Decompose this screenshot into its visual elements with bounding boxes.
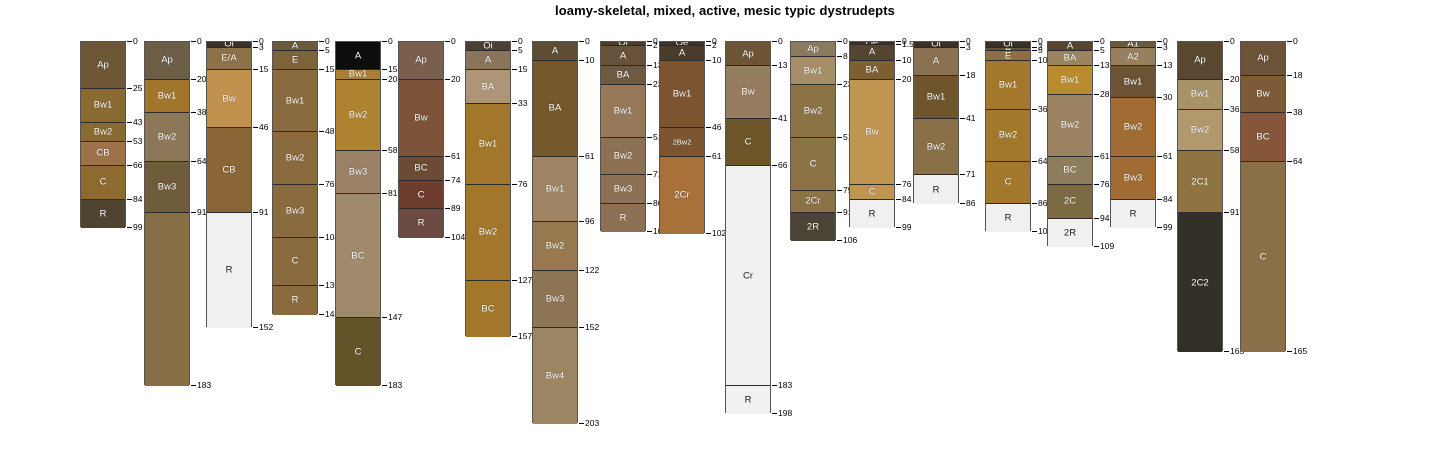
soil-horizon[interactable]: Ap [1241,42,1285,76]
profile-column[interactable]: ApBw1Bw2CBCR [80,41,126,227]
depth-label: 104 [451,232,465,242]
soil-horizon[interactable]: Bw3 [533,271,577,327]
depth-tick [647,45,652,46]
depth-label: 66 [133,160,142,170]
soil-horizon[interactable]: Bw1 [660,61,704,129]
depth-tick [1094,41,1099,42]
depth-tick [512,336,517,337]
soil-horizon[interactable]: A [850,45,894,61]
depth-label: 165 [1293,346,1307,356]
depth-tick [772,118,777,119]
depth-tick [512,69,517,70]
soil-profile-chart: loamy-skeletal, mixed, active, mesic typ… [0,0,1450,450]
depth-label: 15 [325,64,334,74]
depth-label: 0 [1230,36,1235,46]
depth-tick [1224,150,1229,151]
soil-horizon[interactable]: C [791,138,835,191]
soil-horizon[interactable]: Bw2 [145,113,189,162]
depth-tick [1032,41,1037,42]
depth-tick [1157,65,1162,66]
soil-horizon[interactable]: Bw4 [533,328,577,424]
depth-label: 43 [133,117,142,127]
soil-horizon[interactable]: CB [81,142,125,166]
depth-label: 20 [902,74,911,84]
soil-horizon[interactable]: Bw3 [1111,157,1155,200]
depth-tick [960,47,965,48]
soil-horizon[interactable]: Bw2 [1178,110,1222,151]
depth-label: 33 [518,98,527,108]
soil-horizon[interactable]: Bw [850,80,894,185]
horizon-label: R [601,212,645,223]
soil-horizon[interactable]: E [986,51,1030,60]
depth-tick [1094,156,1099,157]
soil-horizon[interactable]: Bw [726,66,770,119]
depth-tick [1094,50,1099,51]
horizon-label: BC [336,250,380,261]
depth-tick [647,84,652,85]
soil-horizon[interactable]: Bw2 [914,119,958,175]
horizon-label: Bw2 [273,153,317,164]
depth-tick [1224,109,1229,110]
soil-horizon[interactable]: Bw2 [1111,98,1155,156]
soil-horizon[interactable]: 2C1 [1178,151,1222,213]
horizon-label: A [601,50,645,61]
depth-label: 84 [1163,194,1172,204]
depth-label: 152 [585,322,599,332]
depth-tick [706,45,711,46]
depth-tick [319,50,324,51]
depth-tick [319,41,324,42]
depth-tick [647,174,652,175]
soil-horizon[interactable]: A [466,51,510,70]
soil-horizon[interactable]: E/A [207,48,251,71]
depth-label: 84 [902,194,911,204]
soil-horizon[interactable]: Ap [1178,42,1222,80]
depth-tick [319,131,324,132]
soil-horizon[interactable]: Bw3 [336,151,380,194]
depth-tick [319,184,324,185]
horizon-label: Bw3 [1111,172,1155,183]
soil-horizon[interactable]: BA [601,66,645,85]
soil-horizon[interactable]: A [660,46,704,61]
soil-horizon[interactable]: R [207,213,251,328]
depth-tick [253,327,258,328]
depth-tick [382,317,387,318]
soil-horizon[interactable]: Bw1 [914,76,958,119]
soil-horizon[interactable]: C [1241,162,1285,352]
depth-tick [127,199,132,200]
horizon-label: Bw [726,87,770,98]
horizon-label: Bw2 [336,109,380,120]
soil-horizon[interactable]: BA [850,61,894,80]
horizon-label: CB [81,148,125,159]
depth-label: 61 [585,151,594,161]
depth-tick [960,75,965,76]
horizon-label: 2Cr [791,196,835,207]
soil-horizon[interactable]: C [336,318,380,386]
soil-horizon[interactable]: C [399,181,443,209]
soil-horizon[interactable]: C [81,166,125,200]
horizon-label: Ap [1178,55,1222,66]
depth-tick [127,88,132,89]
depth-label: 2 [653,40,658,50]
depth-label: 76 [518,179,527,189]
horizon-label: Bw4 [533,370,577,381]
depth-tick [960,118,965,119]
horizon-label: Bw [850,126,894,137]
depth-tick [896,41,901,42]
depth-tick [382,69,387,70]
soil-horizon[interactable]: Ap [399,42,443,80]
depth-tick [127,41,132,42]
depth-label: 94 [1100,213,1109,223]
horizon-label: 2C1 [1178,176,1222,187]
depth-label: 76 [325,179,334,189]
depth-label: 0 [1293,36,1298,46]
depth-tick [1032,109,1037,110]
depth-label: 5 [1100,45,1105,55]
depth-label: 41 [778,113,787,123]
depth-tick [253,41,258,42]
profile-column[interactable]: ApBwCCrR [725,41,771,413]
soil-horizon[interactable]: Cr [726,166,770,386]
horizon-label: E [273,55,317,66]
depth-tick [1094,184,1099,185]
horizon-label: Bw1 [1178,89,1222,100]
horizon-label: C [399,189,443,200]
depth-label: 89 [451,203,460,213]
horizon-label: 2R [1048,227,1092,238]
soil-horizon[interactable]: A [533,42,577,61]
depth-label: 76 [1100,179,1109,189]
depth-tick [647,231,652,232]
soil-horizon[interactable]: Bw1 [273,70,317,132]
horizon-label: Bw1 [986,79,1030,90]
depth-label: 127 [518,275,532,285]
profile-column[interactable]: OiAEBw1Bw2CR [985,41,1031,231]
soil-horizon[interactable]: A2 [1111,48,1155,67]
depth-label: 106 [843,235,857,245]
profile-column[interactable]: ApBwBCC [1240,41,1286,351]
depth-tick [960,41,965,42]
soil-horizon[interactable]: Bw2 [1048,95,1092,157]
soil-horizon[interactable]: E [273,51,317,70]
soil-horizon[interactable]: BA [466,70,510,104]
depth-tick [445,156,450,157]
profile-column[interactable]: ApBw1Bw2C2Cr2R [790,41,836,240]
soil-horizon[interactable]: R [1111,200,1155,228]
soil-horizon[interactable]: R [399,209,443,237]
horizon-label: Bw [1241,89,1285,100]
depth-tick [445,79,450,80]
soil-horizon[interactable]: Ap [81,42,125,89]
soil-horizon[interactable]: A [273,42,317,51]
soil-horizon[interactable]: BC [1241,113,1285,162]
depth-tick [1224,212,1229,213]
soil-horizon[interactable]: Bw2 [81,123,125,142]
horizon-label: Bw1 [601,106,645,117]
depth-label: 0 [388,36,393,46]
horizon-label: BA [1048,53,1092,64]
horizon-label: E [986,51,1030,60]
soil-horizon[interactable]: Bw2 [533,222,577,271]
horizon-label: E/A [207,53,251,64]
depth-label: 3 [259,42,264,52]
horizon-label: Bw3 [533,294,577,305]
soil-horizon[interactable]: Bw1 [1111,66,1155,98]
depth-tick [647,137,652,138]
depth-tick [1094,218,1099,219]
soil-horizon[interactable] [145,213,189,386]
depth-label: 66 [778,160,787,170]
depth-label: 25 [133,83,142,93]
profile-column[interactable]: ABABw1Bw2BC2C2R [1047,41,1093,246]
soil-horizon[interactable]: A [914,48,958,76]
soil-horizon[interactable]: Ap [791,42,835,57]
depth-tick [191,112,196,113]
horizon-label: A [466,55,510,66]
soil-horizon[interactable]: Ap [726,42,770,66]
depth-label: 53 [133,136,142,146]
soil-horizon[interactable]: Bw2 [336,80,380,151]
depth-tick [579,221,584,222]
depth-tick [253,127,258,128]
soil-horizon[interactable]: Ap [145,42,189,80]
depth-tick [319,69,324,70]
soil-horizon[interactable]: Bw3 [273,185,317,238]
soil-horizon[interactable]: Bw3 [601,175,645,203]
soil-horizon[interactable]: Bw2 [791,85,835,138]
soil-horizon[interactable]: Bw1 [601,85,645,138]
depth-tick [445,180,450,181]
soil-horizon[interactable]: BA [533,61,577,157]
soil-horizon[interactable]: Oi [466,42,510,51]
depth-label: 3 [1163,42,1168,52]
depth-tick [960,203,965,204]
depth-label: 28 [1100,89,1109,99]
depth-tick [772,41,777,42]
soil-horizon[interactable]: A [336,42,380,70]
horizon-label: Bw2 [1111,122,1155,133]
depth-label: 198 [778,408,792,418]
soil-horizon[interactable]: Bw1 [986,61,1030,110]
profile-column[interactable]: OiE/ABwCBR [206,41,252,327]
depth-label: 20 [1230,74,1239,84]
depth-label: 5 [325,45,330,55]
horizon-label: C [986,177,1030,188]
soil-horizon[interactable]: 2C [1048,185,1092,219]
profile-column[interactable]: A1A2Bw1Bw2Bw3R [1110,41,1156,227]
soil-horizon[interactable]: Bw2 [273,132,317,185]
depth-tick [512,280,517,281]
depth-label: 13 [1163,60,1172,70]
soil-horizon[interactable]: Bw3 [145,162,189,213]
depth-tick [1157,156,1162,157]
soil-horizon[interactable]: Bw1 [533,157,577,223]
soil-horizon[interactable]: 2Cr [660,157,704,234]
depth-label: 0 [133,36,138,46]
horizon-label: C [726,137,770,148]
depth-tick [579,270,584,271]
horizon-label: Bw3 [273,205,317,216]
depth-tick [1032,60,1037,61]
depth-tick [445,208,450,209]
horizon-label: Bw1 [466,138,510,149]
profile-column[interactable]: OiABw1Bw2R [913,41,959,203]
depth-tick [319,314,324,315]
soil-horizon[interactable]: A [1048,42,1092,51]
depth-tick [127,165,132,166]
depth-label: 109 [1100,241,1114,251]
horizon-label: R [1111,209,1155,220]
soil-horizon[interactable]: BC [336,194,380,318]
soil-horizon[interactable]: R [726,386,770,414]
soil-horizon[interactable]: C [273,238,317,287]
profile-column[interactable]: ABw1Bw2Bw3BCC [335,41,381,385]
soil-horizon[interactable]: Bw2 [986,110,1030,163]
depth-label: 20 [388,74,397,84]
soil-horizon[interactable]: R [914,175,958,203]
depth-label: 91 [1230,207,1239,217]
depth-label: 46 [259,122,268,132]
profile-column[interactable]: ApBwBCCR [398,41,444,237]
horizon-label: Bw2 [1048,120,1092,131]
depth-label: 18 [1293,70,1302,80]
depth-tick [1032,47,1037,48]
depth-label: 152 [259,322,273,332]
profile-column[interactable]: OeABw12Bw22Cr [659,41,705,233]
depth-tick [1224,351,1229,352]
depth-label: 0 [778,36,783,46]
soil-horizon[interactable]: Bw1 [81,89,125,123]
horizon-label: Bw1 [81,100,125,111]
profile-column[interactable]: OeABABwCR [849,41,895,227]
soil-horizon[interactable]: R [273,286,317,314]
depth-tick [1094,246,1099,247]
horizon-label: R [726,395,770,406]
depth-label: 74 [451,175,460,185]
depth-label: 5 [518,45,523,55]
soil-horizon[interactable]: Bw2 [601,138,645,176]
soil-horizon[interactable]: R [986,204,1030,232]
horizon-label: Bw1 [791,65,835,76]
depth-label: 2 [712,40,717,50]
depth-label: 10 [712,55,721,65]
soil-horizon[interactable]: Bw1 [466,104,510,185]
depth-tick [647,203,652,204]
soil-horizon[interactable]: BC [399,157,443,181]
horizon-label: Bw2 [466,227,510,238]
depth-tick [382,385,387,386]
depth-tick [579,41,584,42]
horizon-label: A [273,42,317,51]
depth-tick [706,127,711,128]
horizon-label: A [533,45,577,56]
depth-label: 46 [712,122,721,132]
depth-tick [772,165,777,166]
depth-label: 122 [585,265,599,275]
depth-label: 99 [902,222,911,232]
profile-column[interactable]: ApBw1Bw22C12C2 [1177,41,1223,351]
soil-horizon[interactable]: 2Bw2 [660,128,704,156]
horizon-label: Bw2 [601,151,645,162]
soil-horizon[interactable]: C [986,162,1030,203]
horizon-label: Bw2 [986,130,1030,141]
horizon-label: BC [1241,132,1285,143]
soil-horizon[interactable]: C [850,185,894,200]
horizon-label: BA [466,81,510,92]
depth-tick [127,141,132,142]
depth-tick [191,385,196,386]
depth-tick [382,150,387,151]
depth-label: 15 [518,64,527,74]
soil-horizon[interactable]: A [601,46,645,67]
depth-tick [706,60,711,61]
horizon-label: R [986,212,1030,223]
soil-horizon[interactable]: R [81,200,125,228]
depth-tick [896,60,901,61]
profile-column[interactable]: ABABw1Bw2Bw3Bw4 [532,41,578,423]
horizon-label: 2R [791,222,835,233]
depth-tick [1032,161,1037,162]
soil-horizon[interactable]: R [601,204,645,232]
depth-tick [445,237,450,238]
profile-column[interactable]: OiABABw1Bw2BC [465,41,511,336]
soil-horizon[interactable]: Bw1 [1178,80,1222,110]
horizon-label: Bw1 [336,70,380,79]
horizon-label: C [791,158,835,169]
soil-horizon[interactable]: Bw1 [336,70,380,79]
depth-tick [512,184,517,185]
profile-column[interactable]: AEBw1Bw2Bw3CR [272,41,318,314]
soil-horizon[interactable]: Bw2 [466,185,510,281]
soil-horizon[interactable]: Bw [399,80,443,157]
soil-horizon[interactable]: 2Cr [791,191,835,214]
depth-label: 203 [585,418,599,428]
depth-label: 157 [518,331,532,341]
horizon-label: Bw3 [145,182,189,193]
soil-horizon[interactable]: C [726,119,770,166]
soil-horizon[interactable]: Bw1 [145,80,189,114]
depth-tick [579,423,584,424]
depth-label: 96 [585,216,594,226]
horizon-label: R [914,184,958,195]
horizon-label: C [81,177,125,188]
depth-tick [960,174,965,175]
soil-horizon[interactable]: 2C2 [1178,213,1222,352]
soil-horizon[interactable]: BC [466,281,510,337]
profile-column[interactable]: OiABABw1Bw2Bw3R [600,41,646,231]
soil-horizon[interactable]: Bw1 [1048,66,1092,94]
horizon-label: Bw1 [660,89,704,100]
depth-tick [772,413,777,414]
soil-horizon[interactable]: Bw1 [791,57,835,85]
horizon-label: Bw1 [914,91,958,102]
soil-horizon[interactable]: CB [207,128,251,213]
soil-horizon[interactable]: BA [1048,51,1092,66]
soil-horizon[interactable]: 2R [791,213,835,241]
soil-horizon[interactable]: 2R [1048,219,1092,247]
horizon-label: Ap [399,55,443,66]
soil-horizon[interactable]: R [850,200,894,228]
depth-tick [1287,112,1292,113]
horizon-label: Ap [145,55,189,66]
soil-horizon[interactable]: BC [1048,157,1092,185]
profile-column[interactable]: ApBw1Bw2Bw3 [144,41,190,385]
soil-horizon[interactable]: Bw [207,70,251,128]
soil-horizon[interactable]: Bw [1241,76,1285,114]
depth-tick [706,156,711,157]
